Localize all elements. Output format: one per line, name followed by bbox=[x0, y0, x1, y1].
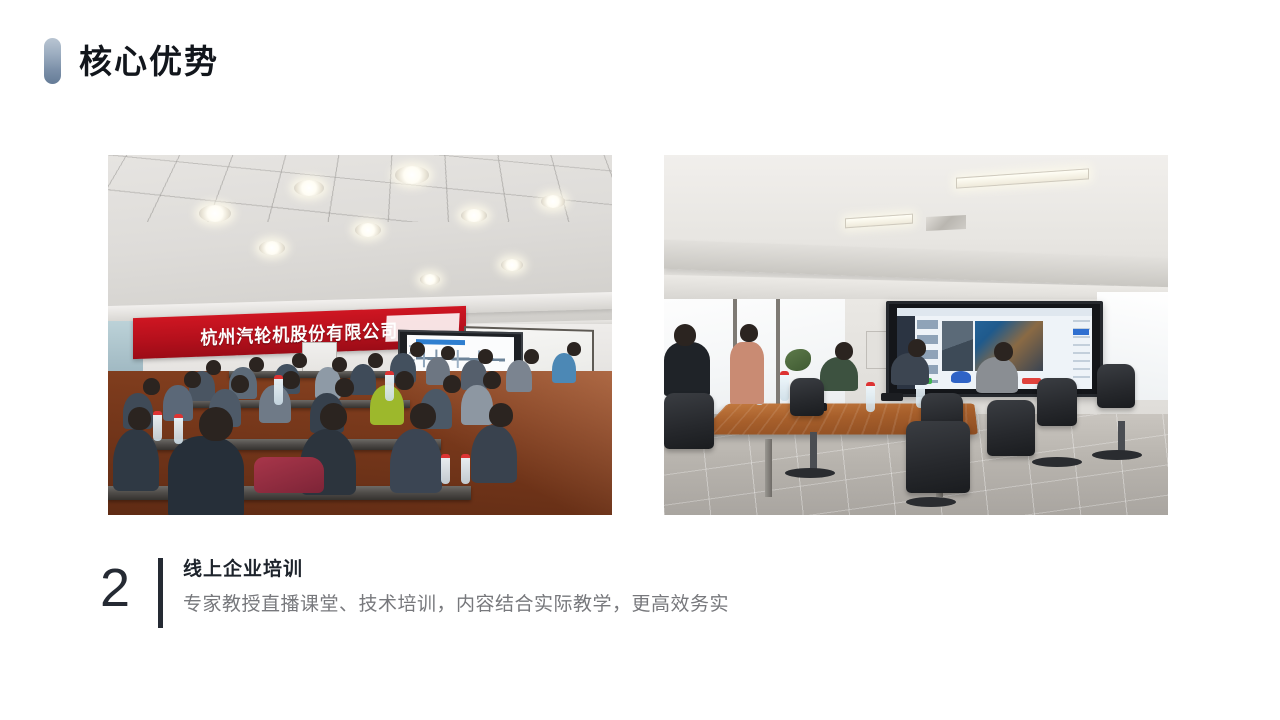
pill-marker-icon bbox=[44, 38, 61, 84]
air-vent-icon bbox=[926, 215, 966, 231]
attendee-head bbox=[489, 403, 513, 427]
attendee-head bbox=[249, 357, 264, 372]
water-bottle bbox=[441, 454, 450, 484]
attendee-head bbox=[292, 353, 307, 368]
presenter-head bbox=[567, 342, 581, 356]
ceiling-light-icon bbox=[420, 274, 440, 285]
water-bottle bbox=[274, 375, 283, 405]
person-head bbox=[674, 324, 696, 346]
wall-sign bbox=[866, 331, 888, 369]
office-chair bbox=[987, 400, 1035, 456]
attendee-head bbox=[332, 357, 347, 372]
attendee-foreground bbox=[390, 429, 442, 493]
attendee-head bbox=[143, 378, 160, 395]
attendee-head bbox=[395, 371, 414, 390]
attendee-head bbox=[483, 371, 501, 389]
attendee-head bbox=[441, 346, 455, 360]
attendee bbox=[506, 360, 532, 392]
seated-person bbox=[891, 353, 929, 385]
office-chair-foreground bbox=[664, 393, 714, 449]
attendee-head bbox=[184, 371, 201, 388]
presenter bbox=[552, 353, 576, 383]
office-chair bbox=[1097, 364, 1135, 408]
person-head bbox=[740, 324, 758, 342]
attendee bbox=[461, 385, 493, 425]
standing-person bbox=[664, 342, 710, 396]
safety-helmet-icon bbox=[951, 371, 971, 383]
app-toolbar bbox=[897, 308, 1092, 316]
caption-texts: 线上企业培训 专家教授直播课堂、技术培训，内容结合实际教学，更高效务实 bbox=[183, 552, 729, 628]
attendee-head bbox=[524, 349, 539, 364]
water-bottle bbox=[153, 411, 162, 441]
attendee-head bbox=[206, 360, 221, 375]
standing-person-coat bbox=[730, 342, 764, 404]
attendee bbox=[350, 364, 376, 395]
photo-classroom-training[interactable]: 杭州汽轮机股份有限公司 bbox=[108, 155, 612, 515]
caption-heading: 线上企业培训 bbox=[183, 556, 729, 584]
caption-subtitle: 专家教授直播课堂、技术培训，内容结合实际教学，更高效务实 bbox=[183, 590, 729, 620]
caption-divider bbox=[158, 558, 163, 628]
app-primary-button bbox=[1073, 329, 1089, 335]
attendee-head bbox=[320, 403, 347, 430]
attendee-head bbox=[282, 371, 300, 389]
person-head bbox=[908, 339, 926, 357]
seated-person bbox=[820, 357, 858, 391]
office-chair-foreground bbox=[906, 421, 970, 493]
conference-camera-icon bbox=[965, 301, 1024, 304]
attendee-head bbox=[231, 375, 249, 393]
page-title: 核心优势 bbox=[79, 45, 219, 78]
attendee-foreground bbox=[471, 425, 517, 483]
attendee-head bbox=[443, 375, 461, 393]
ceiling-light-icon bbox=[395, 166, 429, 184]
smartphone bbox=[881, 393, 903, 401]
caption-block: 2 线上企业培训 专家教授直播课堂、技术培训，内容结合实际教学，更高效务实 bbox=[100, 552, 729, 628]
backpack bbox=[254, 457, 324, 493]
chair-base bbox=[906, 497, 956, 507]
caption-number: 2 bbox=[100, 552, 158, 628]
attendee-head bbox=[410, 403, 436, 429]
ceiling-light-icon bbox=[541, 195, 565, 208]
ceiling-grid bbox=[108, 155, 612, 222]
water-bottle bbox=[866, 382, 875, 412]
attendee-head bbox=[368, 353, 383, 368]
seated-person bbox=[976, 357, 1018, 393]
office-chair bbox=[790, 378, 824, 416]
ceiling-light-icon bbox=[461, 209, 487, 222]
water-bottle bbox=[174, 414, 183, 444]
water-bottle bbox=[461, 454, 470, 484]
video-feed-secondary bbox=[942, 321, 975, 371]
attendee-head bbox=[128, 407, 151, 430]
person-head bbox=[835, 342, 853, 360]
attendee-foreground bbox=[168, 436, 244, 515]
attendee-head bbox=[335, 378, 354, 397]
water-bottle bbox=[385, 371, 394, 401]
attendee-head bbox=[199, 407, 233, 441]
attendee-foreground bbox=[113, 429, 159, 491]
office-chair bbox=[1037, 378, 1077, 426]
table-leg bbox=[765, 439, 772, 497]
photo-gallery: 杭州汽轮机股份有限公司 bbox=[108, 155, 1168, 515]
photo-online-meeting-room[interactable] bbox=[664, 155, 1168, 515]
banner-text: 杭州汽轮机股份有限公司 bbox=[201, 315, 399, 349]
slide-header: 核心优势 bbox=[44, 38, 219, 84]
person-head bbox=[994, 342, 1013, 361]
water-bottle bbox=[780, 371, 789, 401]
